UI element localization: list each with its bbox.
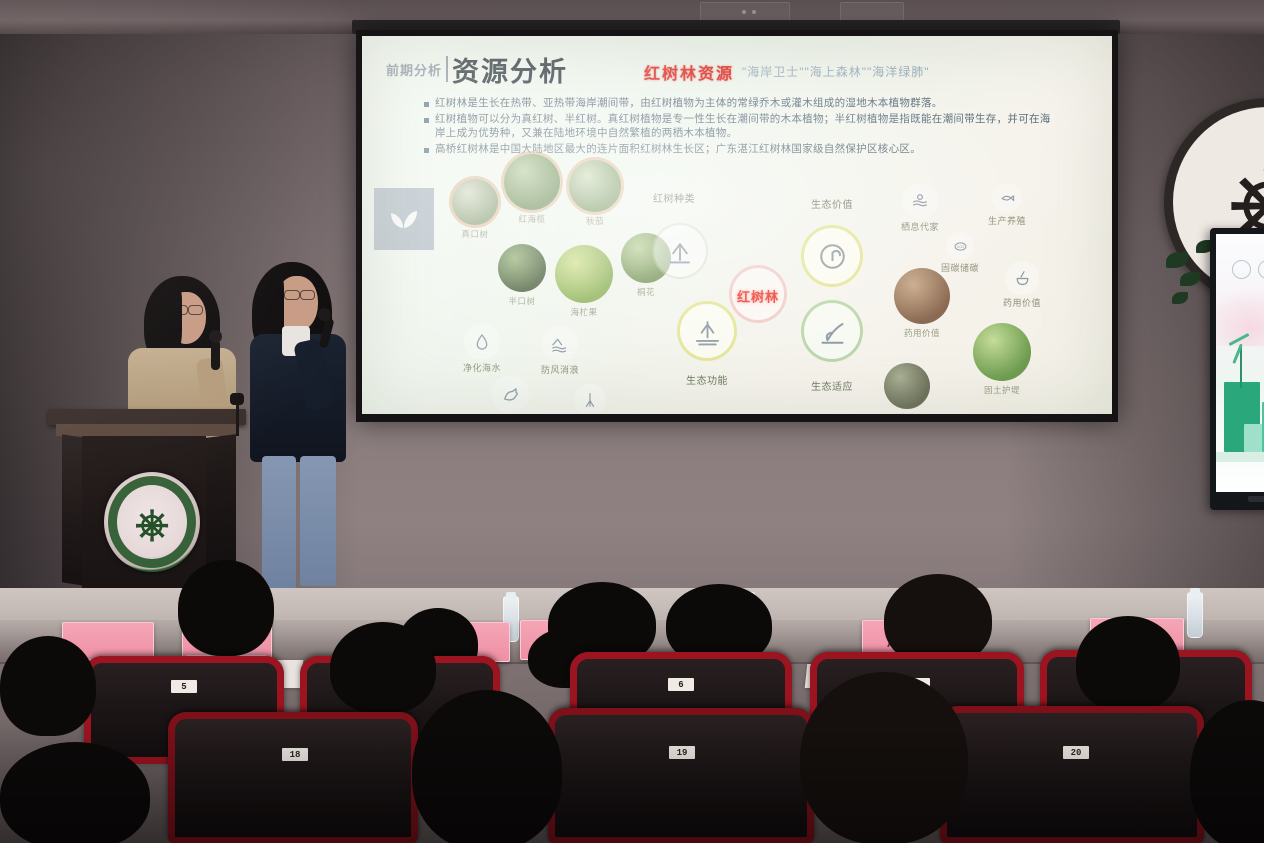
photo-label: 耐盐效果 <box>889 412 925 414</box>
co2-icon: CO2 <box>946 232 974 260</box>
diagram-group-label: 生态价值 <box>811 200 853 211</box>
mortar-icon <box>1005 261 1039 295</box>
svg-text:CO2: CO2 <box>956 245 963 249</box>
diagram-photo-node: 固土护堤 <box>973 323 1031 381</box>
photo-label: 红海榄 <box>518 213 545 225</box>
projector-screen-frame: 前期分析 资源分析 红树林资源 "海岸卫士""海上森林""海洋绿肺" 红树林是生… <box>356 30 1118 422</box>
bullet-square-icon <box>424 102 429 107</box>
jeans <box>300 456 336 586</box>
projected-slide: 前期分析 资源分析 红树林资源 "海岸卫士""海上森林""海洋绿肺" 红树林是生… <box>362 36 1112 414</box>
ceiling-sensor-dot <box>752 10 756 14</box>
bullet-square-icon <box>424 118 429 123</box>
scene-root: 前期分析 资源分析 红树林资源 "海岸卫士""海上森林""海洋绿肺" 红树林是生… <box>0 0 1264 843</box>
icon-label: 生产养殖 <box>988 216 1026 227</box>
bottle-cap <box>1190 588 1200 594</box>
plant-photo <box>452 179 498 225</box>
icon-label: 栖息代家 <box>901 222 939 233</box>
podium-side-right <box>206 434 236 568</box>
slide-eyebrow: 前期分析 <box>386 60 442 79</box>
podium-ledge <box>56 424 238 436</box>
plant-photo <box>569 160 621 212</box>
photo-label: 药用价值 <box>904 327 940 339</box>
gooseneck-mic-head <box>230 393 244 405</box>
microphone-head <box>318 308 331 321</box>
slide-bullet: 红树林是生长在热带、亚热带海岸潮间带，由红树植物为主体的常绿乔木或灌木组成的湿地… <box>424 96 1054 110</box>
diagram-icon-node: 固岸护堤 <box>574 384 606 414</box>
glasses-icon <box>284 290 300 300</box>
bottle-cap <box>506 592 516 598</box>
diagram-photo-node: 海杧果 <box>555 245 613 303</box>
microphone-head <box>209 330 222 343</box>
diagram-photo-node: 耐盐效果 <box>884 363 930 409</box>
diagram-icon-node: 净化海水 <box>464 324 500 360</box>
photo-label: 半口树 <box>508 295 535 307</box>
diagram-icon-node: 生产养殖 <box>992 183 1022 213</box>
seat <box>168 712 418 843</box>
slide-red-heading: 红树林资源 <box>644 60 734 84</box>
eco-badge-icon <box>1258 260 1264 279</box>
podium-side-left <box>62 434 84 585</box>
bird-icon <box>491 375 529 413</box>
tv-screen-content <box>1216 234 1264 492</box>
recycle-plant-icon <box>804 228 860 284</box>
audience-head <box>1076 616 1180 712</box>
university-crest-icon: ⎈ <box>104 472 200 572</box>
bullet-text: 红树林是生长在热带、亚热带海岸潮间带，由红树植物为主体的常绿乔木或灌木组成的湿地… <box>435 96 943 110</box>
seat <box>940 706 1204 843</box>
seat-number-label: 18 <box>282 748 308 761</box>
fishery-icon <box>992 183 1022 213</box>
diagram-photo-node: 药用价值 <box>894 268 950 324</box>
tv-logo-base <box>1248 496 1264 502</box>
diagram-photo-node: 秋茄 <box>569 160 621 212</box>
diagram-group-label: 生态适应 <box>811 382 853 393</box>
icon-label: 防风消浪 <box>541 365 579 376</box>
factory-building-shape <box>1244 424 1262 452</box>
seat <box>548 708 814 843</box>
sprout-soil-icon <box>804 303 860 359</box>
audience-head-foreground <box>0 742 150 843</box>
wave-fish-icon <box>902 183 938 219</box>
podium-top <box>48 409 246 425</box>
photo-label: 固土护堤 <box>984 384 1020 396</box>
audience-head <box>330 622 436 714</box>
plant-photo <box>555 245 613 303</box>
diagram-icon-node: 生物栖息地 <box>491 375 529 413</box>
eco-badge-icon <box>1232 260 1251 279</box>
slide-title: 资源分析 <box>452 50 568 89</box>
diagram-icon-node <box>654 225 706 277</box>
icon-label: 净化海水 <box>463 363 501 374</box>
root-icon <box>574 384 606 414</box>
diagram-center-label: 红树林 <box>737 287 779 306</box>
photo-label: 真口树 <box>461 228 488 240</box>
plant-photo <box>894 268 950 324</box>
diagram-icon-node: 栖息代家 <box>902 183 938 219</box>
audience-head-foreground <box>412 690 562 843</box>
audience-head <box>0 636 96 736</box>
plant-photo <box>973 323 1031 381</box>
audience-head-foreground <box>800 672 968 843</box>
microphone[interactable] <box>211 340 220 370</box>
seat-number-label: 6 <box>668 678 694 691</box>
crest-tree-motif: ⎈ <box>135 503 169 545</box>
diagram-icon-node <box>680 304 734 358</box>
water-bottle <box>1187 592 1203 638</box>
gooseneck-mic-icon <box>236 400 239 436</box>
mangrove-tree-icon <box>654 225 706 277</box>
slide-bullet: 红树植物可以分为真红树、半红树。真红树植物是专一性生长在潮间带的木本植物；半红树… <box>424 112 1054 140</box>
photo-label: 秋茄 <box>586 215 604 227</box>
audience-head <box>178 560 274 656</box>
seat-number-label: 19 <box>669 746 695 759</box>
icon-label: 固碳储碳 <box>941 263 979 274</box>
ceiling-sensor-dot <box>742 10 746 14</box>
photo-label: 桐花 <box>637 286 655 298</box>
diagram-icon-node: 防风消浪 <box>542 326 578 362</box>
glasses-icon <box>300 290 315 300</box>
diagram-icon-node: 药用价值 <box>1005 261 1039 295</box>
photo-label: 海杧果 <box>570 306 597 318</box>
diagram-group-label: 生态功能 <box>686 376 728 387</box>
bullet-text: 红树植物可以分为真红树、半红树。真红树植物是专一性生长在潮间带的木本植物；半红树… <box>435 112 1054 140</box>
wave-mountain-icon <box>542 326 578 362</box>
jeans <box>262 456 296 588</box>
diagram-icon-node: CO2固碳储碳 <box>946 232 974 260</box>
plant-photo <box>504 154 560 210</box>
diagram-group-label: 红树种类 <box>653 194 695 205</box>
slide-title-divider <box>446 56 448 82</box>
wall-mounted-tv[interactable] <box>1210 228 1264 510</box>
slide-diagram: 真口树红海榄秋茄半口树海杧果桐花药用价值耐盐效果固土护堤栖息代家生产养殖CO2固… <box>362 146 1112 414</box>
icon-label: 药用价值 <box>1003 298 1041 309</box>
water-drop-icon <box>464 324 500 360</box>
glasses-icon <box>188 305 203 315</box>
seat-number-label: 20 <box>1063 746 1089 759</box>
diagram-photo-node: 红海榄 <box>504 154 560 210</box>
ground-strip <box>1216 452 1264 462</box>
diagram-photo-node: 半口树 <box>498 244 546 292</box>
forest-water-icon <box>680 304 734 358</box>
plant-photo <box>498 244 546 292</box>
plant-photo <box>884 363 930 409</box>
seat-number-label: 5 <box>171 680 197 693</box>
slide-red-subheading: "海岸卫士""海上森林""海洋绿肺" <box>742 63 930 80</box>
diagram-icon-node <box>804 228 860 284</box>
diagram-photo-node: 真口树 <box>452 179 498 225</box>
diagram-icon-node <box>804 303 860 359</box>
